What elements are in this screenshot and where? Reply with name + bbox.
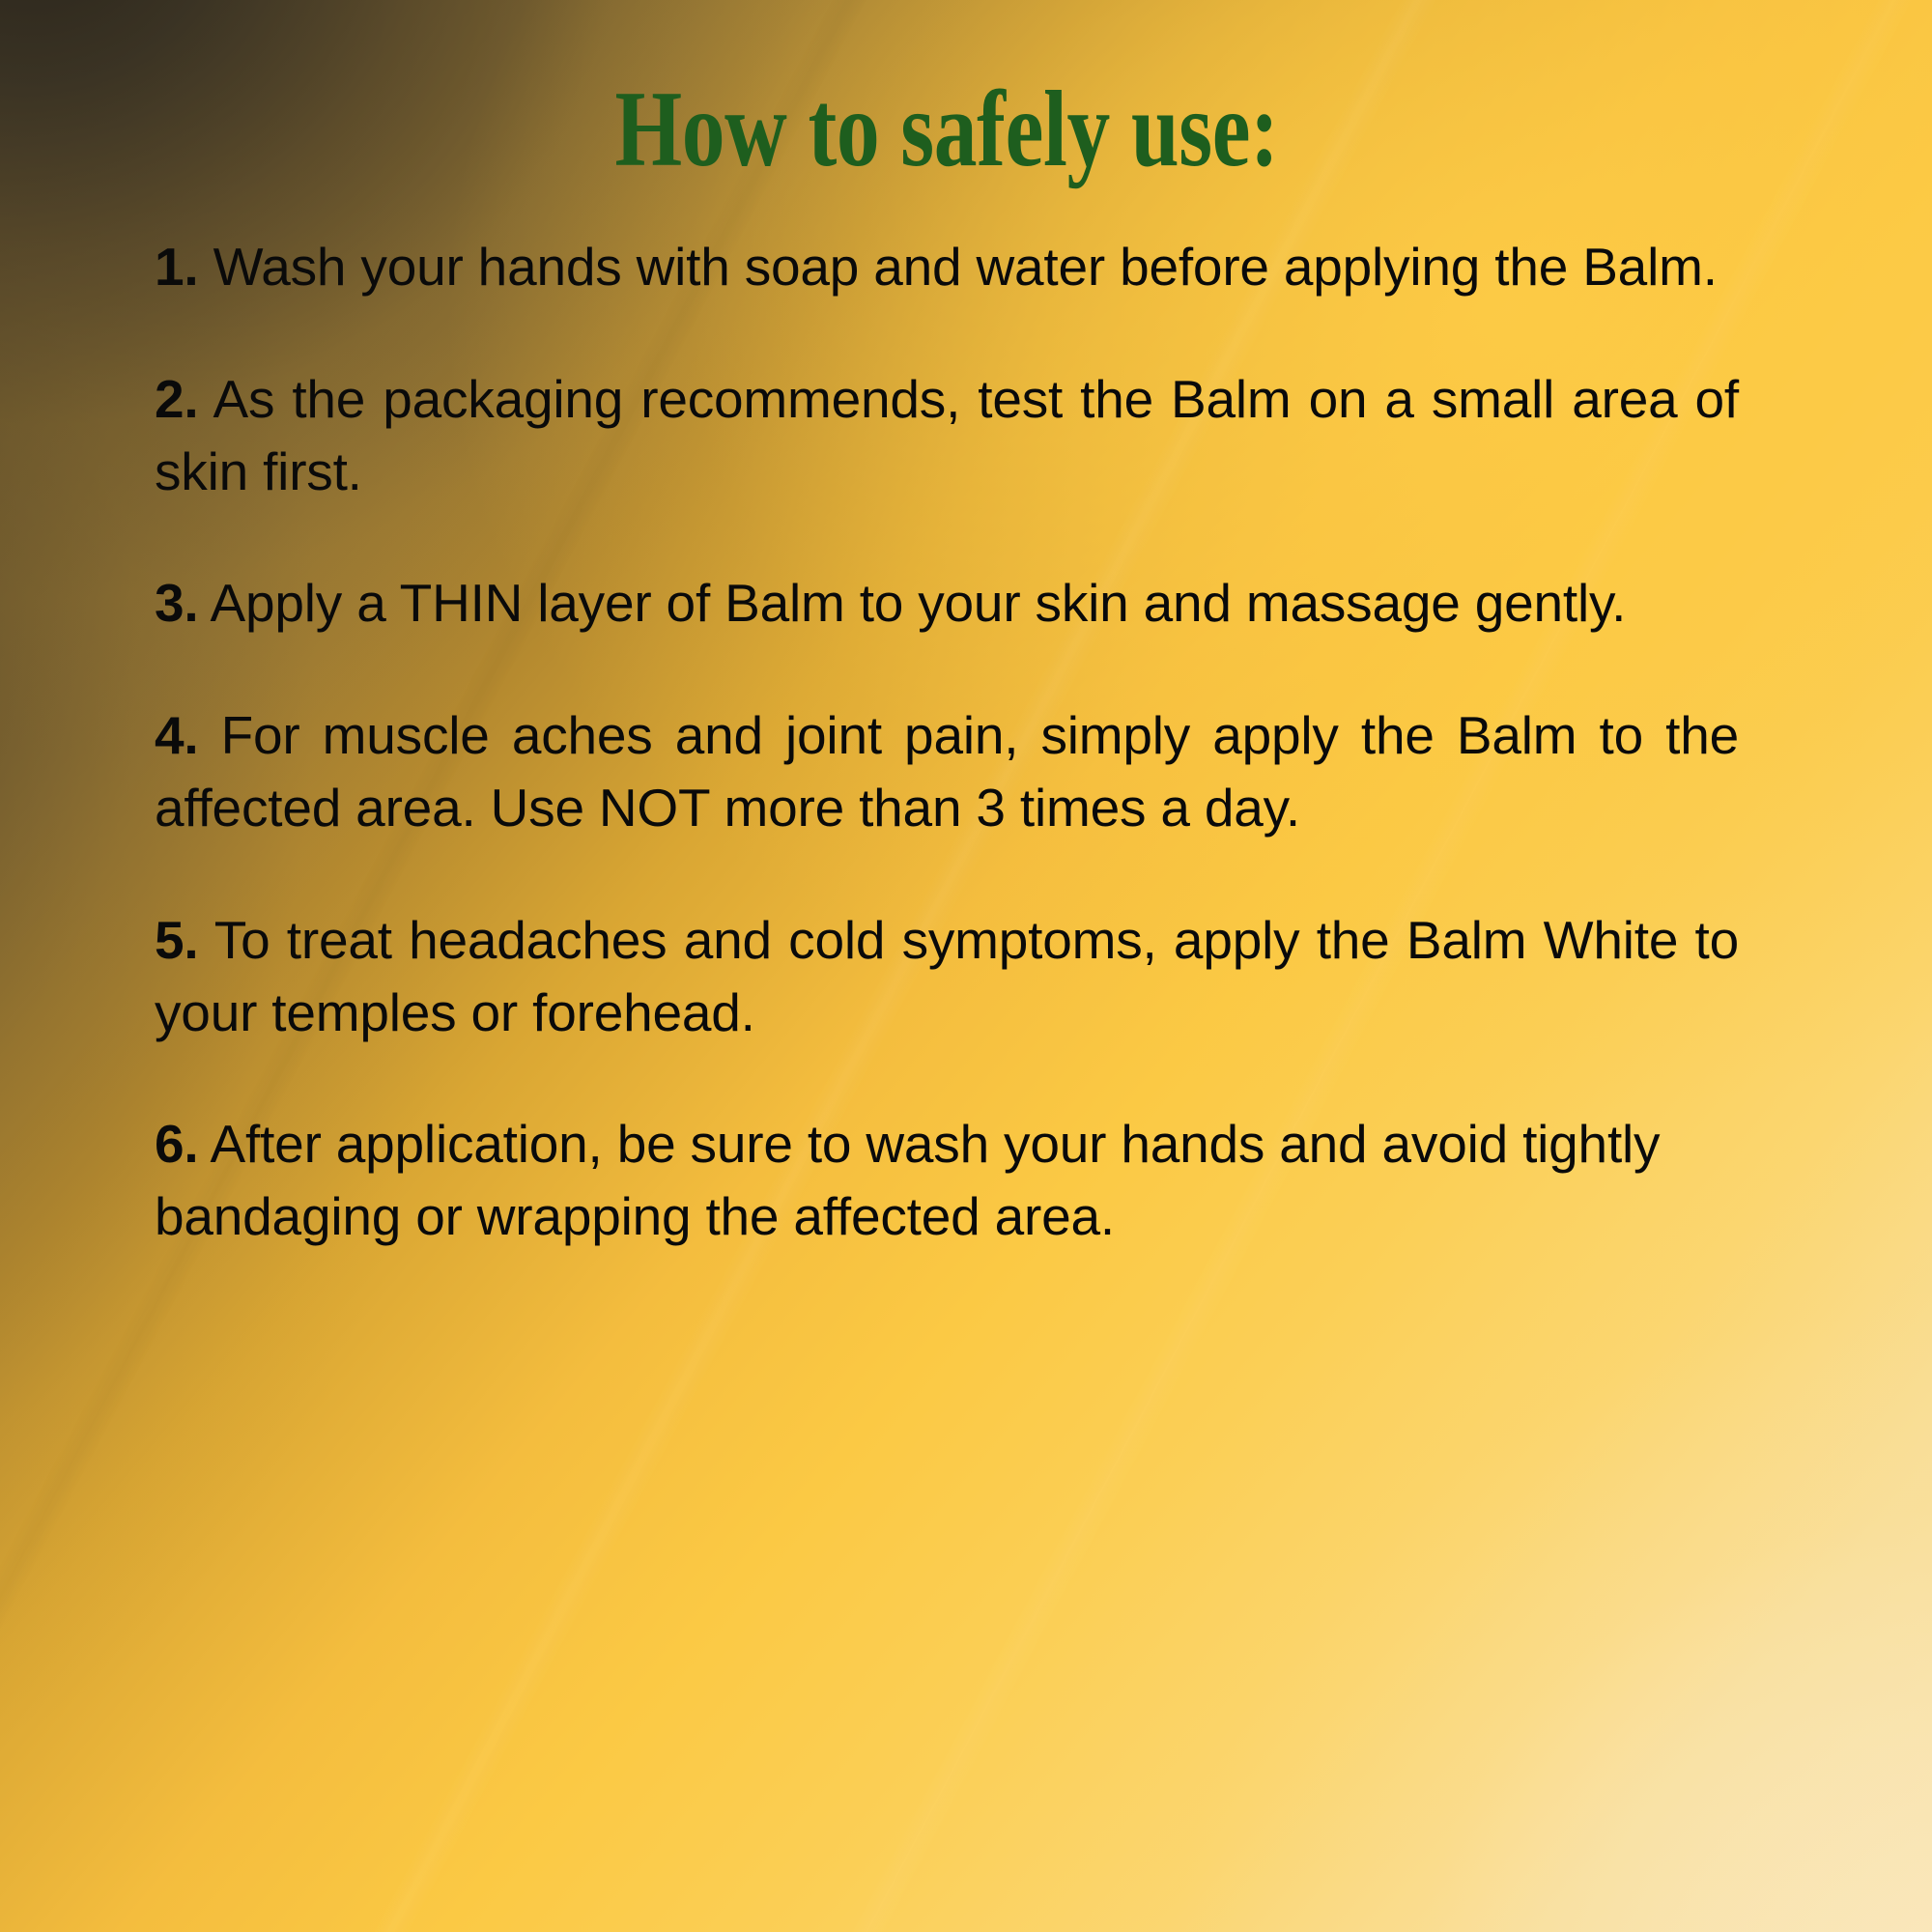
- step-text: Wash your hands with soap and water befo…: [213, 237, 1718, 297]
- list-item: 3. Apply a THIN layer of Balm to your sk…: [155, 567, 1739, 639]
- step-number: 3.: [155, 573, 198, 633]
- step-number: 4.: [155, 705, 198, 765]
- step-number: 2.: [155, 369, 198, 429]
- list-item: 2. As the packaging recommends, test the…: [155, 363, 1739, 508]
- list-item: 1. Wash your hands with soap and water b…: [155, 231, 1739, 303]
- poster-canvas: How to safely use: 1. Wash your hands wi…: [0, 0, 1932, 1932]
- page-title: How to safely use:: [313, 0, 1580, 188]
- list-item: 4. For muscle aches and joint pain, simp…: [155, 699, 1739, 844]
- list-item: 6. After application, be sure to wash yo…: [155, 1108, 1739, 1253]
- step-text: To treat headaches and cold symptoms, ap…: [155, 910, 1739, 1042]
- step-text: For muscle aches and joint pain, simply …: [155, 705, 1739, 838]
- instruction-list: 1. Wash your hands with soap and water b…: [155, 231, 1739, 1253]
- step-number: 5.: [155, 910, 198, 970]
- poster-content: How to safely use: 1. Wash your hands wi…: [0, 0, 1932, 1253]
- step-text: Apply a THIN layer of Balm to your skin …: [211, 573, 1627, 633]
- step-number: 1.: [155, 237, 198, 297]
- step-text: After application, be sure to wash your …: [155, 1114, 1660, 1246]
- step-text: As the packaging recommends, test the Ba…: [155, 369, 1739, 501]
- list-item: 5. To treat headaches and cold symptoms,…: [155, 904, 1739, 1049]
- step-number: 6.: [155, 1114, 198, 1174]
